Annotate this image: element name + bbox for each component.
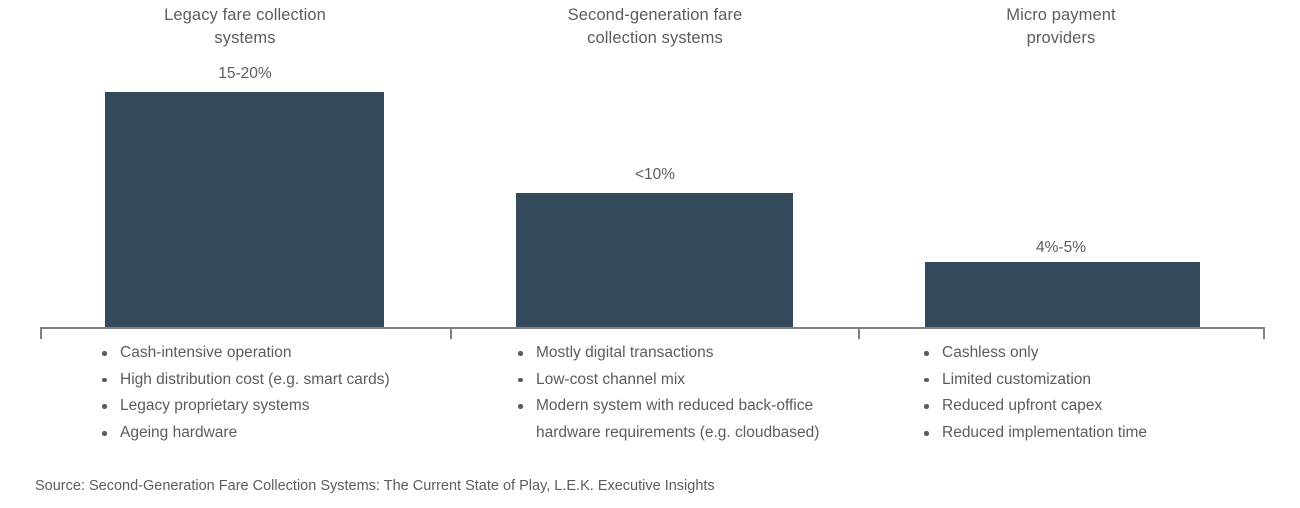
bullet-dot-icon	[518, 404, 523, 409]
column-header-line2: providers	[921, 27, 1201, 50]
column-header-line1: Second-generation fare	[515, 4, 795, 27]
bar-value-label-micro-payment: 4%-5%	[921, 238, 1201, 258]
list-item: Ageing hardware	[96, 420, 426, 447]
bullet-list-legacy: Cash-intensive operation High distributi…	[96, 340, 426, 447]
list-item: Legacy proprietary systems	[96, 393, 426, 420]
list-item-label: Cash-intensive operation	[120, 344, 291, 361]
list-item-label: Mostly digital transactions	[536, 344, 713, 361]
column-header-line1: Micro payment	[921, 4, 1201, 27]
source-note: Source: Second-Generation Fare Collectio…	[35, 476, 715, 496]
list-item: Cash-intensive operation	[96, 340, 426, 367]
x-axis-tick-end	[1263, 328, 1265, 339]
x-axis-tick-start	[40, 328, 42, 339]
bullet-dot-icon	[924, 431, 929, 436]
list-item-label: Modern system with reduced back-office h…	[536, 397, 819, 441]
column-header-line2: systems	[105, 27, 385, 50]
bar-value-label-second-generation: <10%	[515, 165, 795, 185]
column-header-micro-payment: Micro payment providers	[921, 4, 1201, 50]
list-item: Reduced implementation time	[918, 420, 1248, 447]
list-item-label: Reduced implementation time	[942, 424, 1147, 441]
list-item-label: Limited customization	[942, 371, 1091, 388]
bar-value-label-legacy: 15-20%	[105, 64, 385, 84]
list-item-label: Ageing hardware	[120, 424, 237, 441]
list-item: Limited customization	[918, 367, 1248, 394]
chart-canvas: Legacy fare collection systems Second-ge…	[0, 0, 1300, 508]
list-item-label: Cashless only	[942, 344, 1039, 361]
x-axis-tick-1	[450, 328, 452, 339]
list-item: Low-cost channel mix	[512, 367, 857, 394]
bullet-dot-icon	[102, 404, 107, 409]
list-item: High distribution cost (e.g. smart cards…	[96, 367, 426, 394]
bullet-dot-icon	[102, 378, 107, 383]
bar-legacy	[105, 92, 384, 328]
bullet-dot-icon	[924, 378, 929, 383]
bullet-list-micro-payment: Cashless only Limited customization Redu…	[918, 340, 1248, 447]
bullet-dot-icon	[518, 378, 523, 383]
list-item: Modern system with reduced back-office h…	[512, 393, 857, 446]
bullet-dot-icon	[924, 404, 929, 409]
column-header-line2: collection systems	[515, 27, 795, 50]
bullet-dot-icon	[102, 351, 107, 356]
list-item: Mostly digital transactions	[512, 340, 857, 367]
x-axis-tick-2	[858, 328, 860, 339]
x-axis-line	[40, 327, 1265, 329]
bullet-dot-icon	[924, 351, 929, 356]
list-item-label: Legacy proprietary systems	[120, 397, 310, 414]
bullet-dot-icon	[102, 431, 107, 436]
bar-micro-payment	[925, 262, 1200, 328]
list-item-label: Low-cost channel mix	[536, 371, 685, 388]
column-header-legacy: Legacy fare collection systems	[105, 4, 385, 50]
list-item-label: Reduced upfront capex	[942, 397, 1102, 414]
list-item: Cashless only	[918, 340, 1248, 367]
list-item-label: High distribution cost (e.g. smart cards…	[120, 371, 390, 388]
list-item: Reduced upfront capex	[918, 393, 1248, 420]
bullet-list-second-generation: Mostly digital transactions Low-cost cha…	[512, 340, 857, 447]
column-header-line1: Legacy fare collection	[105, 4, 385, 27]
bar-second-generation	[516, 193, 793, 328]
column-header-second-generation: Second-generation fare collection system…	[515, 4, 795, 50]
bullet-dot-icon	[518, 351, 523, 356]
